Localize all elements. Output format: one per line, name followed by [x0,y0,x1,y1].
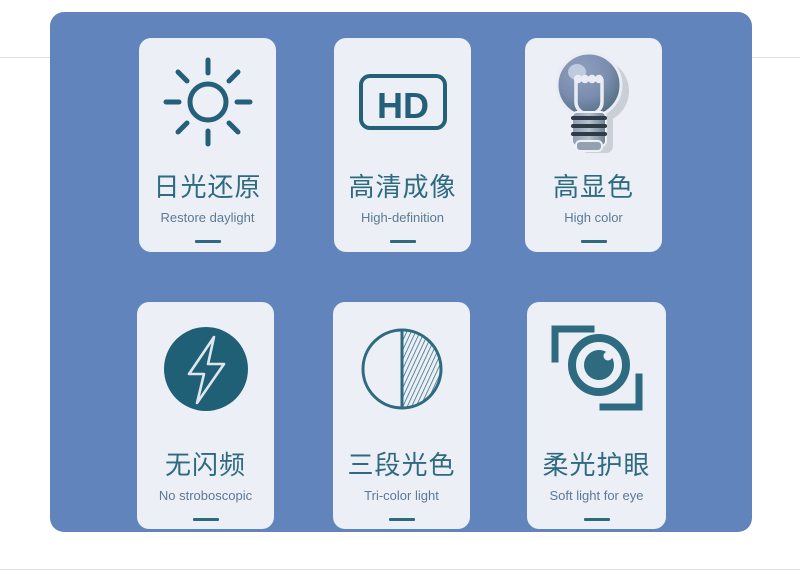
feature-card-soft-light-for-eye[interactable]: 柔光护眼 Soft light for eye [527,302,666,529]
feature-card-no-stroboscopic[interactable]: 无闪频 No stroboscopic [137,302,274,529]
feature-title-en: Soft light for eye [550,488,644,504]
feature-card-high-color[interactable]: 高显色 High color [525,38,662,252]
feature-grid: 日光还原 Restore daylight HD 高清成像 High-defin… [50,12,752,532]
feature-title-zh: 日光还原 [153,172,261,202]
feature-title-zh: 柔光护眼 [542,450,650,480]
feature-card-restore-daylight[interactable]: 日光还原 Restore daylight [139,38,276,252]
feature-title-zh: 高清成像 [348,172,456,202]
svg-text:HD: HD [377,85,429,126]
sun-icon [139,42,276,162]
half-shaded-circle-icon [333,308,470,430]
feature-title-zh: 三段光色 [347,450,455,480]
feature-title-zh: 高显色 [553,172,634,202]
feature-panel: 日光还原 Restore daylight HD 高清成像 High-defin… [50,12,752,532]
lightbulb-icon [525,42,662,162]
eye-focus-icon [527,308,666,430]
accent-dash [584,518,610,521]
bottom-divider-rule [0,569,800,570]
hd-badge-icon: HD [334,42,471,162]
feature-card-tri-color-light[interactable]: 三段光色 Tri-color light [333,302,470,529]
feature-title-zh: 无闪频 [165,450,246,480]
accent-dash [195,240,221,243]
lightning-bolt-icon [137,308,274,430]
accent-dash [193,518,219,521]
accent-dash [581,240,607,243]
feature-title-en: Tri-color light [364,488,439,504]
feature-title-en: No stroboscopic [159,488,252,504]
feature-card-high-definition[interactable]: HD 高清成像 High-definition [334,38,471,252]
feature-title-en: High color [564,210,623,226]
feature-title-en: Restore daylight [161,210,255,226]
accent-dash [390,240,416,243]
feature-title-en: High-definition [361,210,444,226]
accent-dash [389,518,415,521]
